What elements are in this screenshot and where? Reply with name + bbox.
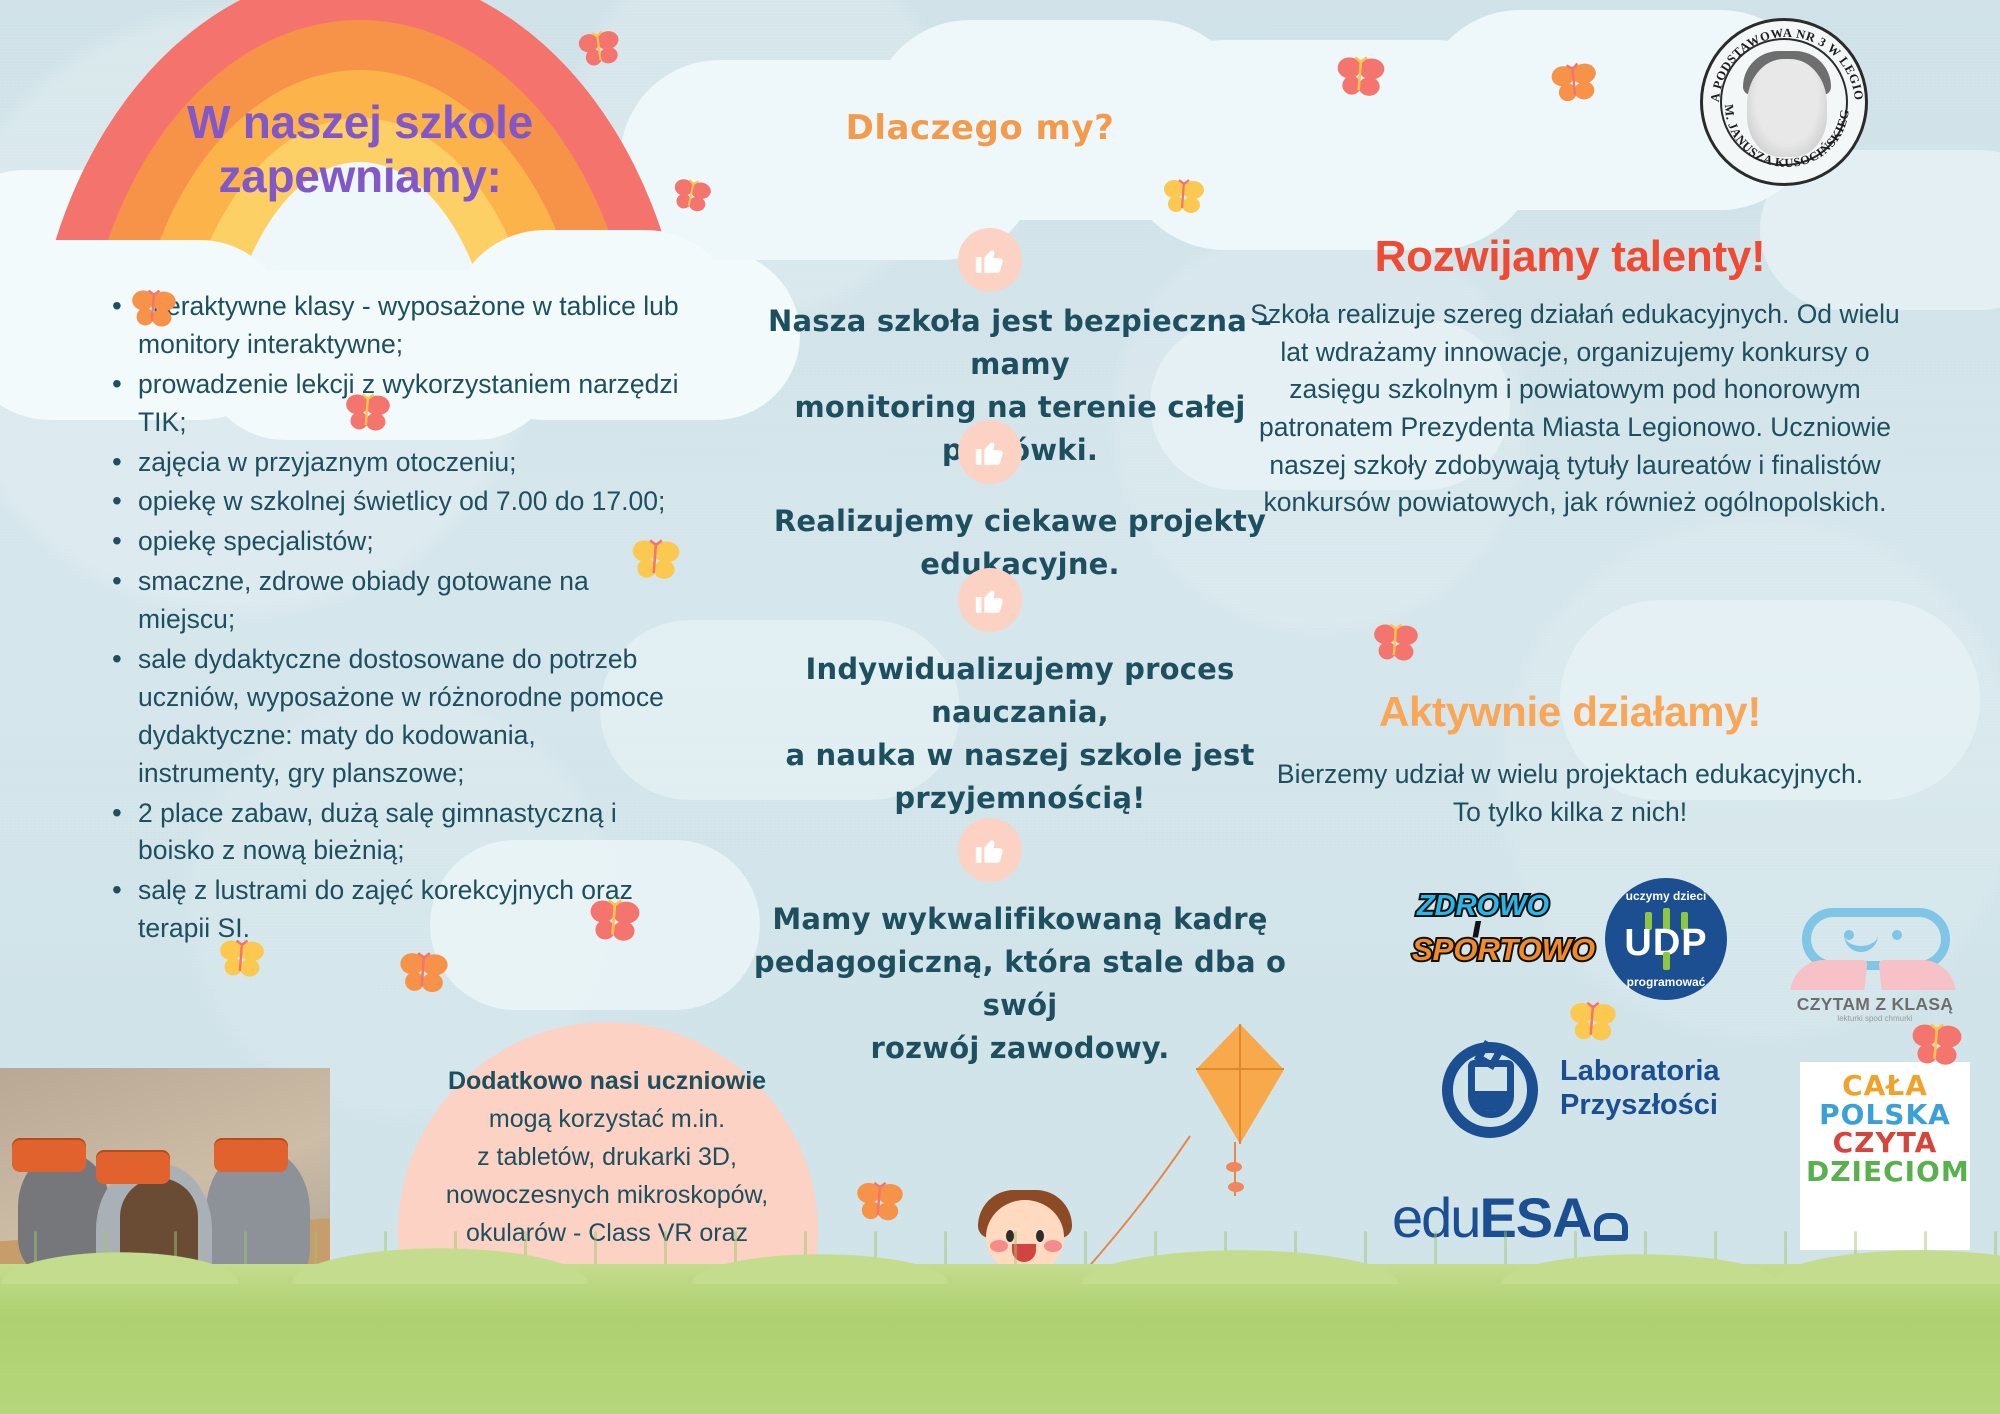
logo-zdrowo-line2: SPORTOWO <box>1412 932 1554 968</box>
logo-lab-line1: Laboratoria <box>1560 1054 1720 1088</box>
center-statement-line: a nauka w naszej szkole jest <box>750 734 1290 777</box>
butterfly-icon <box>130 288 178 328</box>
center-statement-line: Realizujemy ciekawe projekty edukacyjne. <box>750 500 1290 586</box>
active-heading: Aktywnie działamy! <box>1250 688 1890 736</box>
list-item: opiekę w szkolnej świetlicy od 7.00 do 1… <box>108 483 683 521</box>
crest-bottom-text: IM. JANUSZA KUSOCIŃSKIEGO <box>1703 21 1852 170</box>
center-statement-line: Mamy wykwalifikowaną kadrę <box>750 898 1290 941</box>
butterfly-icon <box>218 938 266 978</box>
butterfly-icon <box>630 538 682 580</box>
center-statement-line: Indywidualizujemy proces nauczania, <box>750 648 1290 734</box>
butterfly-icon <box>344 392 392 432</box>
poster-canvas: W naszej szkole zapewniamy: interaktywne… <box>0 0 2000 1414</box>
page-title-line2: zapewniamy: <box>90 149 630 203</box>
features-list: interaktywne klasy - wyposażone w tablic… <box>108 288 683 950</box>
logo-cala-line3: CZYTA <box>1806 1129 1964 1158</box>
logo-udp: uczymy dzieci UDP programować <box>1605 878 1727 1000</box>
logo-czytam-z-klasa: CZYTAM Z KLASĄ lekturki spod chmurki <box>1780 908 1970 1024</box>
talents-paragraph: Szkoła realizuje szereg działań edukacyj… <box>1250 296 1900 522</box>
logo-cala-line2: POLSKA <box>1806 1101 1964 1130</box>
center-heading: Dlaczego my? <box>780 108 1180 148</box>
thumbs-up-icon <box>958 818 1022 882</box>
list-item: 2 place zabaw, dużą salę gimnastyczną i … <box>108 795 683 871</box>
list-item: interaktywne klasy - wyposażone w tablic… <box>108 288 683 364</box>
butterfly-icon <box>1568 1000 1618 1042</box>
center-statement-line: Nasza szkoła jest bezpieczna – mamy <box>750 300 1290 386</box>
additional-note-line: z tabletów, drukarki 3D, <box>382 1138 832 1176</box>
logo-cala-line4: DZIECIOM <box>1806 1158 1964 1187</box>
thumbs-up-icon <box>958 568 1022 632</box>
logo-lab-line2: Przyszłości <box>1560 1088 1720 1122</box>
list-item: sale dydaktyczne dostosowane do potrzeb … <box>108 641 683 793</box>
thumbs-up-icon <box>958 420 1022 484</box>
butterfly-icon <box>1162 178 1206 214</box>
butterfly-icon <box>670 175 714 214</box>
crest-bottom-text-arc: IM. JANUSZA KUSOCIŃSKIEGO <box>1703 21 1868 186</box>
butterfly-icon <box>1372 622 1420 662</box>
butterfly-icon <box>1335 55 1387 97</box>
logo-czytam-title: CZYTAM Z KLASĄ <box>1780 994 1970 1015</box>
kite-icon <box>1182 1010 1298 1160</box>
center-statement-line: przyjemnością! <box>750 777 1290 820</box>
talents-heading: Rozwijamy talenty! <box>1250 232 1890 282</box>
logo-zdrowo-i-sportowo: ZDROWO i SPORTOWO <box>1412 890 1554 982</box>
logo-zdrowo-line1: ZDROWO <box>1412 890 1554 923</box>
svg-text:IM. JANUSZA KUSOCIŃSKIEGO: IM. JANUSZA KUSOCIŃSKIEGO <box>1703 21 1852 170</box>
logo-udp-top: uczymy dzieci <box>1605 889 1727 903</box>
logo-cala-line1: CAŁA <box>1806 1072 1964 1101</box>
grass-strip <box>0 1264 2000 1414</box>
school-crest-badge: SZKOŁA PODSTAWOWA NR 3 W LEGIONOWIE IM. … <box>1700 18 1868 186</box>
additional-note-line: mogą korzystać m.in. <box>382 1100 832 1138</box>
butterfly-icon <box>1910 1022 1964 1066</box>
list-item: zajęcia w przyjaznym otoczeniu; <box>108 444 683 482</box>
butterfly-icon <box>588 898 642 942</box>
thumbs-up-icon <box>958 228 1022 292</box>
logo-udp-bottom: programować <box>1605 975 1727 989</box>
list-item: smaczne, zdrowe obiady gotowane na miejs… <box>108 563 683 639</box>
butterfly-icon <box>1547 58 1603 106</box>
list-item: prowadzenie lekcji z wykorzystaniem narz… <box>108 366 683 442</box>
center-statement: Realizujemy ciekawe projekty edukacyjne. <box>750 500 1290 586</box>
butterfly-icon <box>398 950 450 994</box>
center-statement: Indywidualizujemy proces nauczania, a na… <box>750 648 1290 820</box>
active-paragraph: Bierzemy udział w wielu projektach eduka… <box>1270 756 1870 831</box>
page-title-line1: W naszej szkole <box>90 95 630 149</box>
page-title: W naszej szkole zapewniamy: <box>90 95 630 204</box>
list-item: opiekę specjalistów; <box>108 523 683 561</box>
logo-laboratoria-przyszlosci: Laboratoria Przyszłości <box>1442 1038 1782 1146</box>
